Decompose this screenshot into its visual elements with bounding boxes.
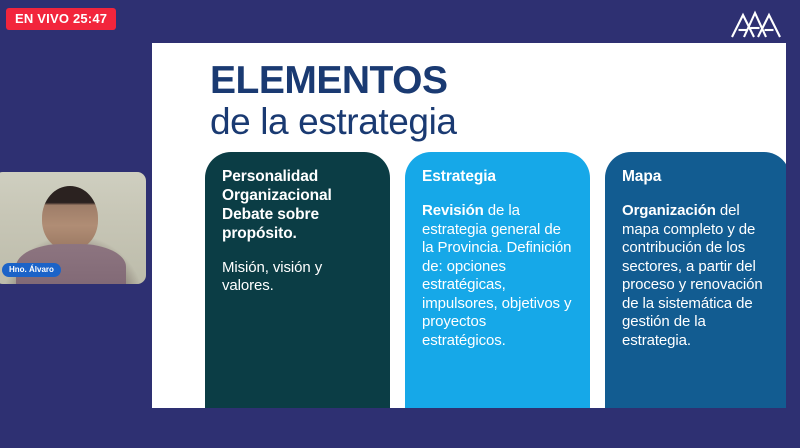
card-body: Revisión de la estrategia general de la …: [422, 202, 573, 351]
card-body-lead: Revisión: [422, 202, 484, 219]
card-personalidad-organizacional: Personalidad Organizacional Debate sobre…: [205, 152, 390, 408]
card-spacer: [222, 244, 373, 259]
elements-card-group: Personalidad Organizacional Debate sobre…: [205, 152, 786, 408]
card-body: Misión, visión y valores.: [222, 259, 373, 296]
card-spacer: [422, 187, 573, 202]
card-spacer: [622, 187, 773, 202]
card-estrategia: Estrategia Revisión de la estrategia gen…: [405, 152, 590, 408]
card-body-rest: de la estrategia general de la Provincia…: [422, 202, 571, 349]
card-heading: Mapa: [622, 168, 773, 187]
presentation-slide[interactable]: ELEMENTOS de la estrategia Personalidad …: [152, 43, 786, 408]
video-conference-stage: EN VIVO 25:47 Hno. Álvaro ELEMENTOS de l…: [0, 0, 800, 448]
card-body-lead: Organización: [622, 202, 716, 219]
participant-name-badge: Hno. Álvaro: [2, 263, 61, 277]
triple-a-mountain-logo-icon: [728, 6, 786, 42]
card-body-rest: del mapa completo y de contribución de l…: [622, 202, 763, 349]
card-heading: Personalidad Organizacional Debate sobre…: [222, 168, 373, 244]
card-body-rest: Misión, visión y valores.: [222, 259, 322, 295]
card-heading: Estrategia: [422, 168, 573, 187]
page-title-line-2: de la estrategia: [210, 103, 457, 140]
live-indicator-badge: EN VIVO 25:47: [6, 8, 116, 30]
card-mapa: Mapa Organización del mapa completo y de…: [605, 152, 786, 408]
card-body: Organización del mapa completo y de cont…: [622, 202, 773, 351]
participant-head: [42, 186, 98, 250]
page-title-line-1: ELEMENTOS: [210, 61, 457, 100]
participant-video-tile[interactable]: Hno. Álvaro: [0, 172, 146, 284]
page-title: ELEMENTOS de la estrategia: [210, 61, 457, 140]
